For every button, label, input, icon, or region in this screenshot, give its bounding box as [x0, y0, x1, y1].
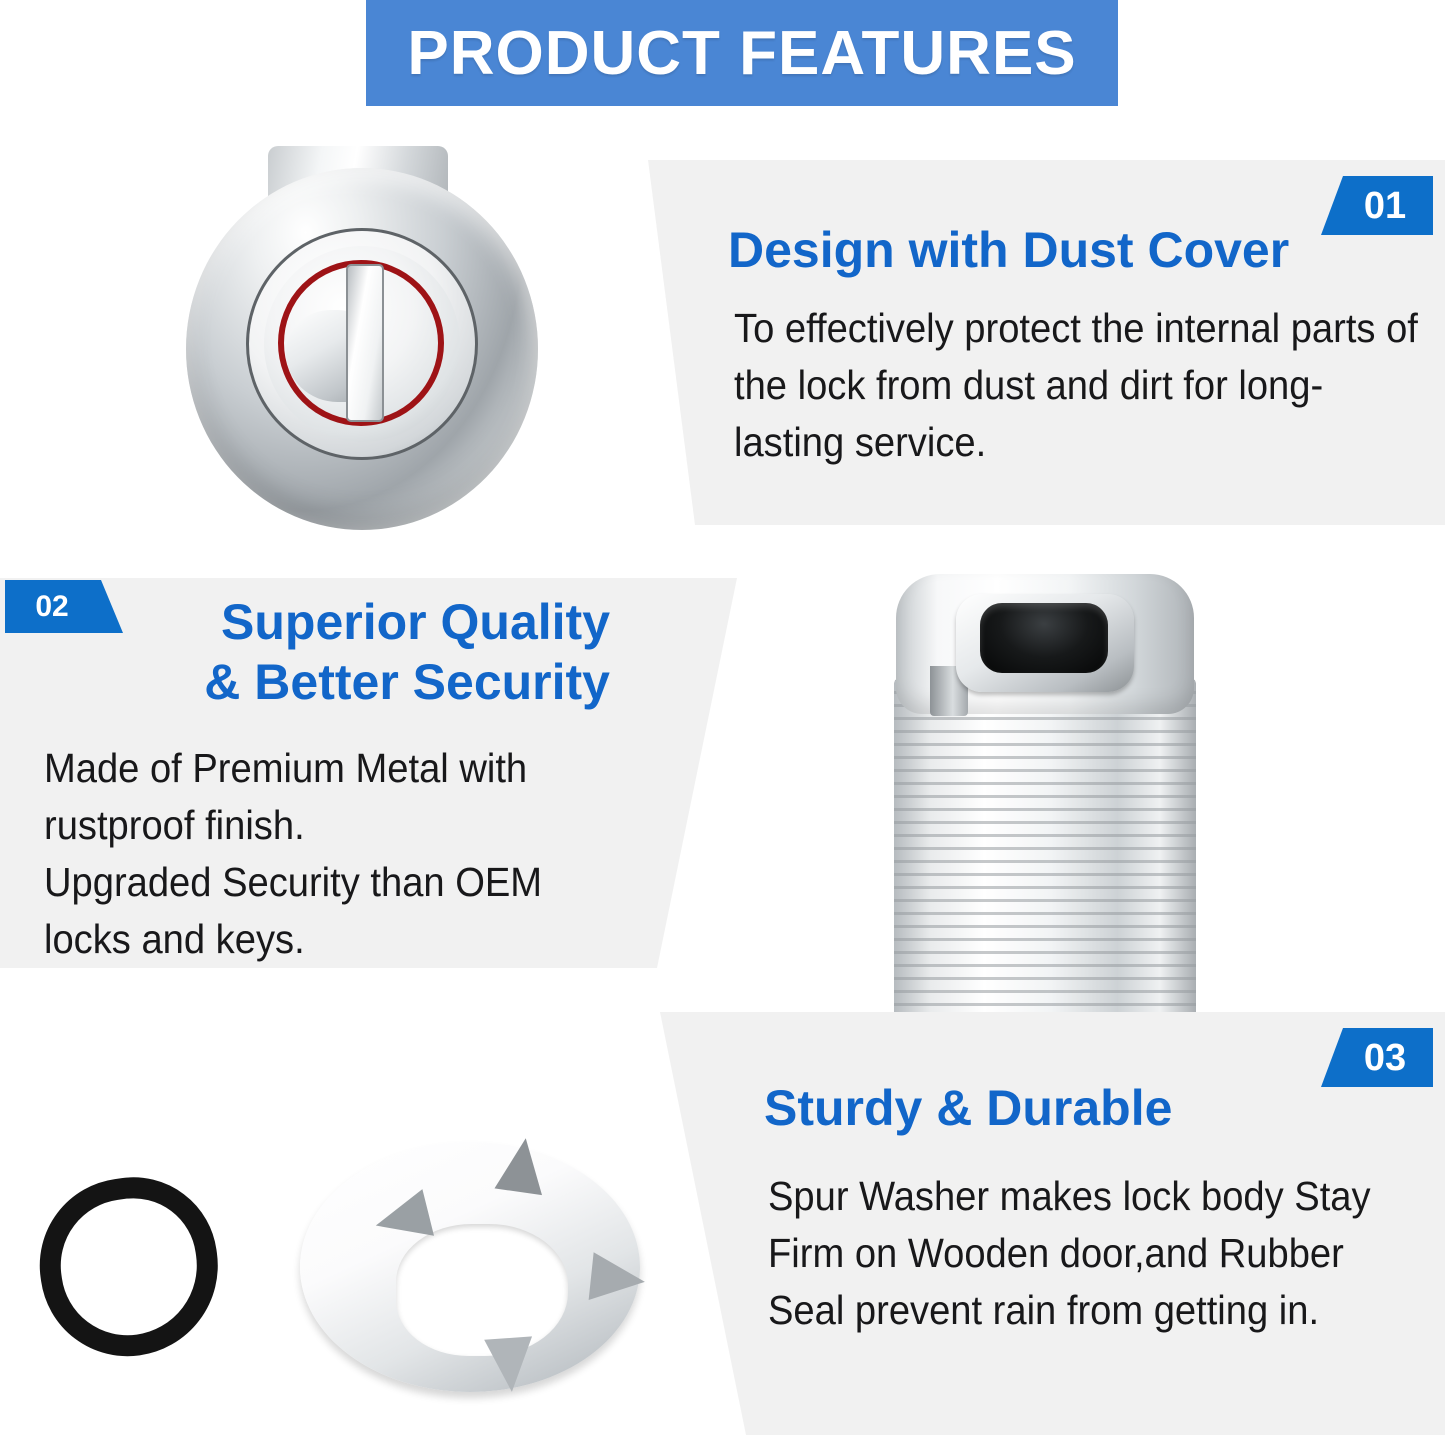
spur-washer-hole-shape	[396, 1224, 568, 1356]
spur-washer-tab-shape	[589, 1252, 648, 1305]
rubber-seal-ring-image	[40, 1178, 218, 1356]
feature-title-03: Sturdy & Durable	[764, 1078, 1172, 1138]
feature-number-01: 01	[1364, 187, 1406, 225]
feature-body-02: Made of Premium Metal with rustproof fin…	[44, 740, 639, 968]
product-features-infographic: PRODUCT FEATURES 01 Design with Dust Cov…	[0, 0, 1445, 1435]
threaded-lock-barrel-image	[880, 570, 1210, 1020]
header-banner: PRODUCT FEATURES	[366, 0, 1118, 106]
barrel-threaded-tube-shape	[894, 678, 1196, 1016]
spur-washer-image	[290, 1120, 652, 1408]
feature-body-03: Spur Washer makes lock body Stay Firm on…	[768, 1168, 1400, 1339]
feature-body-01: To effectively protect the internal part…	[734, 300, 1422, 471]
feature-title-01: Design with Dust Cover	[728, 220, 1289, 280]
cam-lock-face-image	[160, 140, 560, 540]
spur-washer-tab-shape	[484, 1336, 536, 1393]
feature-number-02: 02	[35, 592, 68, 622]
spur-washer-tab-shape	[494, 1135, 549, 1195]
feature-title-02: Superior Quality & Better Security	[140, 592, 610, 712]
page-title: PRODUCT FEATURES	[407, 18, 1076, 89]
barrel-keyhole-shape	[980, 603, 1108, 673]
feature-number-03: 03	[1364, 1039, 1406, 1077]
lock-keyway-slot-shape	[346, 264, 384, 422]
rubber-seal-ring-shape	[28, 1166, 229, 1367]
spur-washer-disc-shape	[300, 1142, 640, 1392]
